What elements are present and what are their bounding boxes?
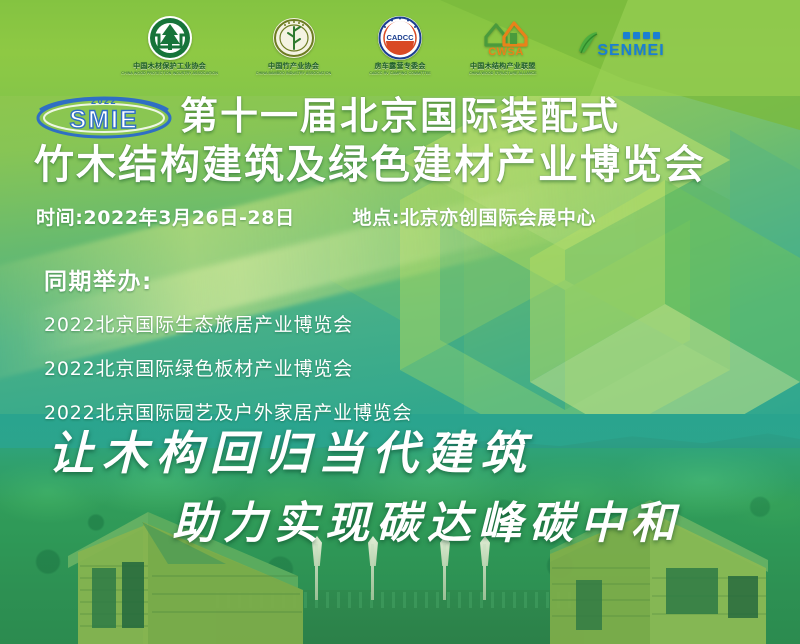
event-meta-row: 时间:2022年3月26日-28日 地点:北京亦创国际会展中心: [36, 203, 596, 230]
concurrent-event-item: 2022北京国际绿色板材产业博览会: [44, 354, 412, 381]
smie-logo-acronym: SMIE: [69, 106, 138, 134]
concurrent-events-heading: 同期举办:: [44, 262, 412, 296]
slogan-line-1: 让木构回归当代建筑: [48, 417, 534, 483]
poster-content: 2022 SMIE 第十一届北京国际装配式 竹木结构建筑及绿色建材产业博览会 时…: [0, 0, 800, 644]
smie-logo-year: 2022: [91, 96, 117, 106]
title-row: 2022 SMIE 第十一届北京国际装配式: [34, 92, 620, 140]
poster-title-line-2: 竹木结构建筑及绿色建材产业博览会: [34, 140, 706, 190]
concurrent-events-block: 同期举办: 2022北京国际生态旅居产业博览会 2022北京国际绿色板材产业博览…: [44, 262, 412, 442]
exhibition-poster: 中国木材保护工业协会 CHINA WOOD PROTECTION INDUSTR…: [0, 0, 800, 644]
event-date: 时间:2022年3月26日-28日: [36, 203, 295, 230]
poster-title-line-1: 第十一届北京国际装配式: [180, 92, 620, 140]
concurrent-event-item: 2022北京国际生态旅居产业博览会: [44, 310, 412, 337]
slogan-line-2: 助力实现碳达峰碳中和: [172, 487, 682, 551]
event-venue: 地点:北京亦创国际会展中心: [353, 203, 596, 230]
smie-event-logo: 2022 SMIE: [34, 92, 174, 140]
